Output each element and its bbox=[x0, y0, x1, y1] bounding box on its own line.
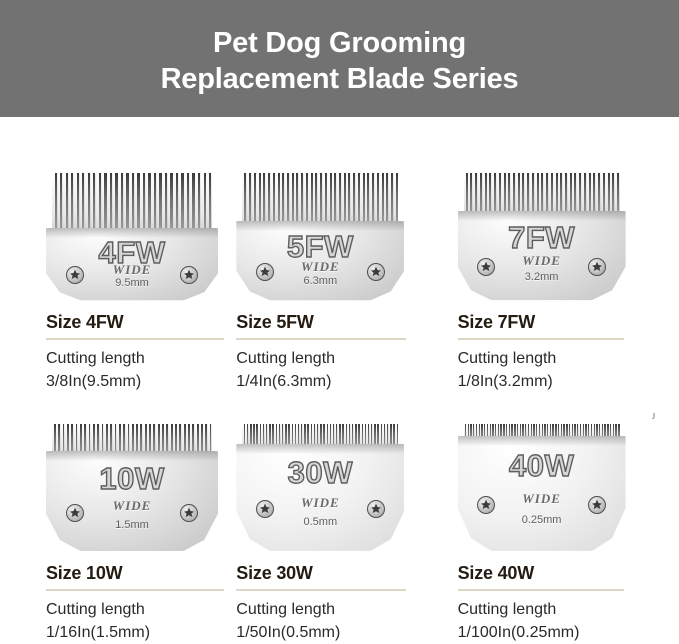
cutting-length-label: Cutting length bbox=[458, 598, 624, 621]
cutting-length-label: Cutting length bbox=[236, 598, 406, 621]
cutting-length-value: 3/8In(9.5mm) bbox=[46, 370, 224, 393]
screw-right-icon bbox=[180, 504, 198, 522]
product-card-4fw[interactable]: 4FWWIDE9.5mm Size 4FW Cutting length 3/8… bbox=[0, 161, 226, 393]
title-divider bbox=[46, 338, 224, 340]
product-caption-10w: Size 10W Cutting length 1/16In(1.5mm) bbox=[46, 552, 224, 644]
engraved-size-label: 30W bbox=[236, 455, 404, 491]
title-divider bbox=[46, 589, 224, 591]
cutting-length-label: Cutting length bbox=[46, 598, 224, 621]
blade-image-40w: 40WWIDE0.25mm bbox=[458, 412, 626, 552]
cutting-length-label: Cutting length bbox=[458, 347, 624, 370]
product-row-top: 4FWWIDE9.5mm Size 4FW Cutting length 3/8… bbox=[0, 117, 679, 393]
product-card-40w[interactable]: 40WWIDE0.25mm Size 40W Cutting length 1/… bbox=[453, 412, 679, 644]
engraved-size-label: 10W bbox=[46, 461, 218, 497]
product-title: Size 5FW bbox=[236, 312, 406, 333]
product-card-10w[interactable]: 10WWIDE1.5mm Size 10W Cutting length 1/1… bbox=[0, 412, 226, 644]
screw-right-icon bbox=[180, 266, 198, 284]
blade-image-7fw: 7FWWIDE3.2mm bbox=[458, 161, 626, 301]
screw-left-icon bbox=[256, 263, 274, 281]
scan-artifact-mark: J bbox=[652, 414, 657, 420]
product-caption-4fw: Size 4FW Cutting length 3/8In(9.5mm) bbox=[46, 301, 224, 393]
engraved-size-label: 40W bbox=[458, 448, 626, 484]
product-caption-5fw: Size 5FW Cutting length 1/4In(6.3mm) bbox=[236, 301, 406, 393]
blade-teeth bbox=[242, 173, 398, 227]
cutting-length-value: 1/4In(6.3mm) bbox=[236, 370, 406, 393]
screw-right-icon bbox=[588, 496, 606, 514]
product-title: Size 7FW bbox=[458, 312, 624, 333]
cutting-length-value: 1/16In(1.5mm) bbox=[46, 621, 224, 644]
product-row-bottom: 10WWIDE1.5mm Size 10W Cutting length 1/1… bbox=[0, 393, 679, 644]
blade-graphic: 10WWIDE1.5mm bbox=[46, 424, 218, 552]
screw-left-icon bbox=[66, 504, 84, 522]
cutting-length-value: 1/8In(3.2mm) bbox=[458, 370, 624, 393]
product-card-7fw[interactable]: 7FWWIDE3.2mm Size 7FW Cutting length 1/8… bbox=[453, 161, 679, 393]
screw-left-icon bbox=[66, 266, 84, 284]
blade-image-4fw: 4FWWIDE9.5mm bbox=[46, 161, 218, 301]
product-caption-30w: Size 30W Cutting length 1/50In(0.5mm) bbox=[236, 552, 406, 644]
blade-graphic: 30WWIDE0.5mm bbox=[236, 424, 404, 552]
blade-graphic: 5FWWIDE6.3mm bbox=[236, 173, 404, 301]
blade-image-5fw: 5FWWIDE6.3mm bbox=[236, 161, 404, 301]
header-banner: Pet Dog Grooming Replacement Blade Serie… bbox=[0, 0, 679, 117]
header-title-line-2: Replacement Blade Series bbox=[161, 61, 519, 97]
product-title: Size 40W bbox=[458, 563, 624, 584]
screw-right-icon bbox=[367, 263, 385, 281]
screw-left-icon bbox=[256, 500, 274, 518]
product-grid: 4FWWIDE9.5mm Size 4FW Cutting length 3/8… bbox=[0, 117, 679, 644]
screw-left-icon bbox=[477, 496, 495, 514]
product-title: Size 10W bbox=[46, 563, 224, 584]
blade-image-10w: 10WWIDE1.5mm bbox=[46, 412, 218, 552]
title-divider bbox=[458, 589, 624, 591]
blade-image-30w: 30WWIDE0.5mm bbox=[236, 412, 404, 552]
blade-teeth bbox=[464, 173, 620, 217]
product-caption-7fw: Size 7FW Cutting length 1/8In(3.2mm) bbox=[458, 301, 624, 393]
blade-graphic: 7FWWIDE3.2mm bbox=[458, 173, 626, 301]
cutting-length-label: Cutting length bbox=[236, 347, 406, 370]
product-title: Size 4FW bbox=[46, 312, 224, 333]
title-divider bbox=[458, 338, 624, 340]
title-divider bbox=[236, 589, 406, 591]
screw-right-icon bbox=[588, 258, 606, 276]
product-title: Size 30W bbox=[236, 563, 406, 584]
cutting-length-value: 1/100In(0.25mm) bbox=[458, 621, 624, 644]
engraved-mm-label: 0.25mm bbox=[458, 514, 626, 526]
engraved-mm-label: 0.5mm bbox=[236, 516, 404, 528]
engraved-size-label: 7FW bbox=[458, 220, 626, 256]
header-title-line-1: Pet Dog Grooming bbox=[213, 25, 466, 61]
product-card-5fw[interactable]: 5FWWIDE6.3mm Size 5FW Cutting length 1/4… bbox=[226, 161, 452, 393]
blade-graphic: 4FWWIDE9.5mm bbox=[46, 173, 218, 301]
product-card-30w[interactable]: 30WWIDE0.5mm Size 30W Cutting length 1/5… bbox=[226, 412, 452, 644]
product-caption-40w: Size 40W Cutting length 1/100In(0.25mm) bbox=[458, 552, 624, 644]
blade-graphic: 40WWIDE0.25mm bbox=[458, 424, 626, 552]
title-divider bbox=[236, 338, 406, 340]
cutting-length-value: 1/50In(0.5mm) bbox=[236, 621, 406, 644]
screw-right-icon bbox=[367, 500, 385, 518]
screw-left-icon bbox=[477, 258, 495, 276]
blade-teeth bbox=[52, 173, 212, 234]
cutting-length-label: Cutting length bbox=[46, 347, 224, 370]
